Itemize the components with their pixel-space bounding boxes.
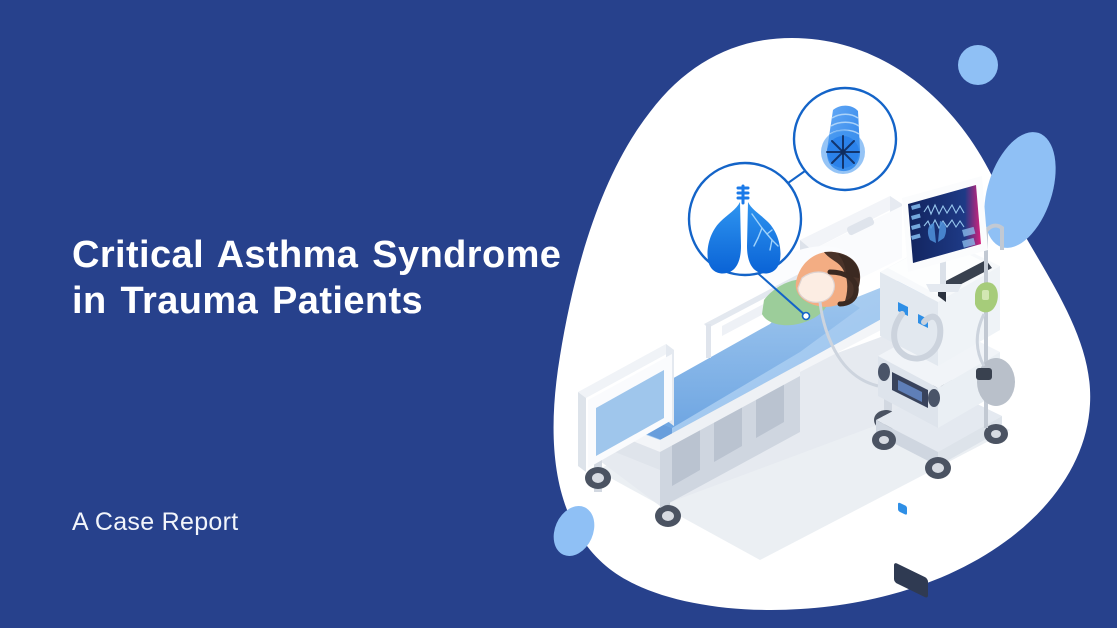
page-title: Critical Asthma Syndromein Trauma Patien…: [72, 232, 592, 325]
title-line-2: in Trauma Patients: [72, 280, 423, 322]
bed-caster: [655, 505, 681, 527]
ventilator-caster: [872, 430, 896, 450]
connector-endpoint-dot: [803, 313, 810, 320]
callout-bronchiole[interactable]: [794, 88, 896, 190]
text-column: Critical Asthma Syndromein Trauma Patien…: [72, 0, 592, 628]
ventilator-control-panel: [894, 562, 928, 599]
ventilator-caster: [925, 457, 951, 479]
title-line-1: Critical Asthma Syndrome: [72, 234, 561, 276]
callout-lungs[interactable]: [689, 163, 801, 275]
callout-lungs-circle[interactable]: [689, 163, 801, 275]
slide-root: Critical Asthma Syndromein Trauma Patien…: [0, 0, 1117, 628]
subtitle: A Case Report: [72, 508, 592, 537]
